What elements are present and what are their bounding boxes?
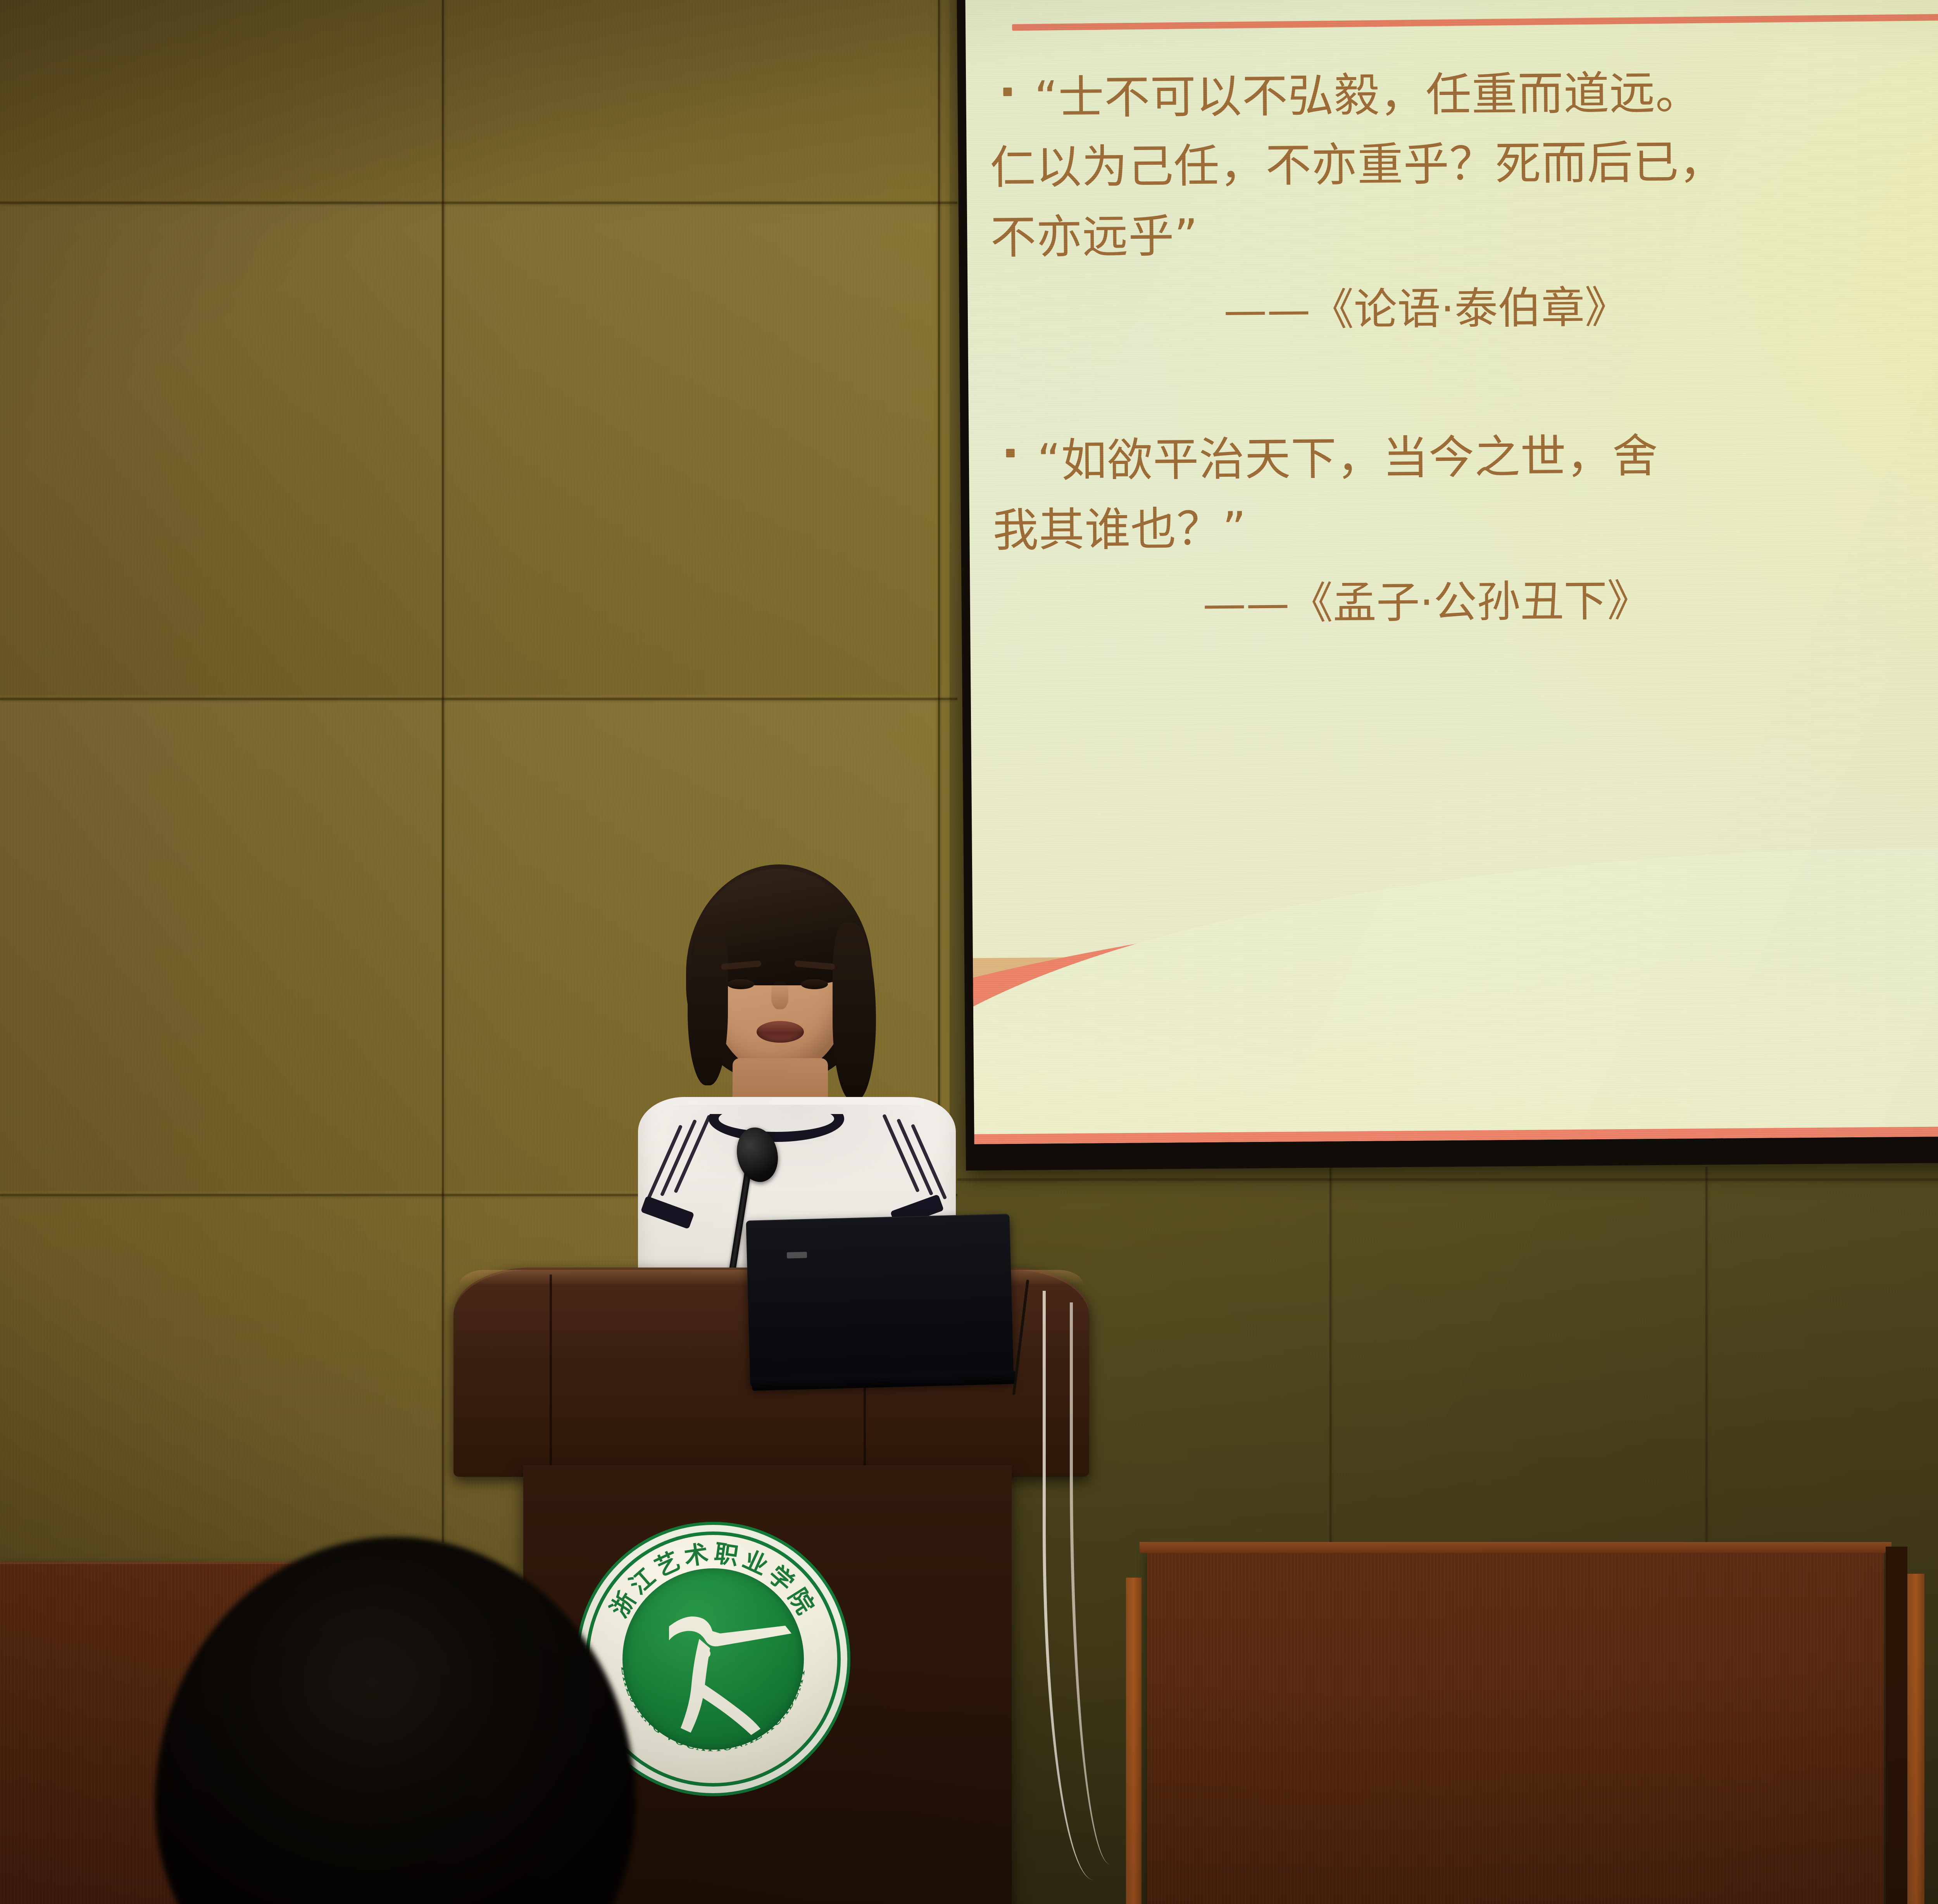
screenshot-root: “士不可以不弘毅，任重而道远。 仁以为己任，不亦重乎？死而后已， 不亦远乎” —… (0, 0, 1938, 1904)
mouth (757, 1021, 804, 1043)
wall-seam (442, 0, 444, 1543)
wood-trim-strip (1126, 1578, 1141, 1904)
wall-panel (445, 205, 936, 695)
quote-1-line-3: 不亦远乎” (990, 194, 1938, 272)
quote-1-citation: ——《论语·泰伯章》 (991, 272, 1938, 345)
wall-seam (0, 202, 957, 204)
nose (771, 981, 788, 1009)
wall-panel (0, 701, 441, 1191)
quote-1-line-1: “士不可以不弘毅，任重而道远。 (989, 55, 1938, 133)
slide-text-column: “士不可以不弘毅，任重而道远。 仁以为己任，不亦重乎？死而后已， 不亦远乎” —… (989, 55, 1938, 638)
slide-bullet-2: “如欲平治天下，当今之世，舍 我其谁也？” ——《孟子·公孙丑下》 (992, 418, 1938, 638)
quote-2-line-1: “如欲平治天下，当今之世，舍 (992, 418, 1938, 496)
podium-seam (550, 1275, 552, 1472)
slide-bottom-decoration (971, 723, 1938, 1144)
slide-spacer (991, 337, 1938, 427)
wood-wall-panel (1147, 1549, 1884, 1904)
crane-dancer-emblem-icon (622, 1568, 804, 1750)
slide-deco-curve (971, 840, 1938, 1135)
quote-2-line-2: 我其谁也？” (993, 488, 1938, 566)
eye-left (727, 979, 754, 989)
wood-trim-strip (1907, 1574, 1924, 1904)
quote-1-line-2: 仁以为己任，不亦重乎？死而后已， (990, 125, 1938, 203)
projection-screen-frame: “士不可以不弘毅，任重而道远。 仁以为己任，不亦重乎？死而后已， 不亦远乎” —… (957, 0, 1938, 1171)
logo-green-field (622, 1568, 804, 1750)
slide-top-rule (1012, 4, 1938, 31)
projection-screen: “士不可以不弘毅，任重而道远。 仁以为己任，不亦重乎？死而后已， 不亦远乎” —… (965, 0, 1938, 1144)
wall-seam (1705, 1167, 1707, 1554)
square-bullet-icon (1003, 88, 1012, 96)
presentation-slide: “士不可以不弘毅，任重而道远。 仁以为己任，不亦重乎？死而后已， 不亦远乎” —… (965, 0, 1938, 1144)
eye-right (801, 979, 828, 989)
wall-panel (0, 205, 441, 695)
wall-seam (1329, 1167, 1331, 1554)
wall-seam (0, 698, 957, 700)
slide-bullet-1: “士不可以不弘毅，任重而道远。 仁以为己任，不亦重乎？死而后已， 不亦远乎” —… (989, 55, 1938, 345)
square-bullet-icon (1006, 449, 1015, 457)
wall-seam (957, 1178, 1938, 1181)
wood-panel-cap (1140, 1542, 1891, 1553)
laptop-screen[interactable] (746, 1214, 1014, 1387)
wood-panel-gap (1886, 1547, 1907, 1904)
laptop-logo (787, 1252, 807, 1258)
wood-grain (1147, 1549, 1884, 1904)
quote-2-citation: ——《孟子·公孙丑下》 (993, 565, 1938, 638)
